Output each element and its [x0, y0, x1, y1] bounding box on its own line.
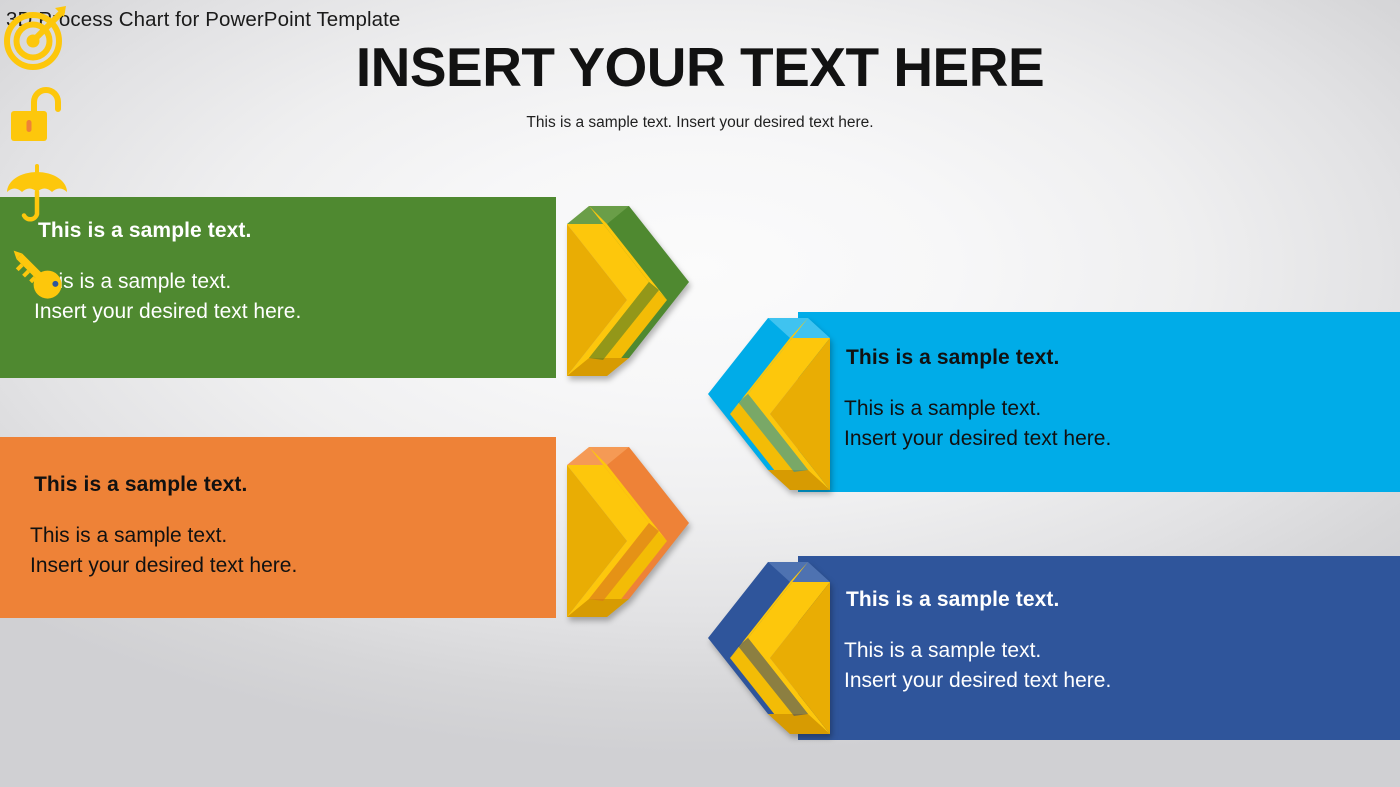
- step-heading: This is a sample text.: [846, 588, 1059, 612]
- step-body-line1: This is a sample text.: [844, 394, 1111, 424]
- umbrella-icon: [0, 158, 1400, 237]
- step-body: This is a sample text. Insert your desir…: [844, 636, 1111, 697]
- step-card-navy[interactable]: This is a sample text. This is a sample …: [798, 556, 1400, 740]
- step-heading: This is a sample text.: [34, 473, 247, 497]
- slide-canvas: 3D Process Chart for PowerPoint Template…: [0, 0, 1400, 787]
- step-body-line2: Insert your desired text here.: [30, 551, 297, 581]
- chevron-3d-navy: [688, 554, 838, 744]
- step-body: This is a sample text. Insert your desir…: [844, 394, 1111, 455]
- chevron-3d-cyan: [688, 310, 838, 500]
- key-icon: [0, 237, 1400, 316]
- step-card-cyan[interactable]: This is a sample text. This is a sample …: [798, 312, 1400, 492]
- step-body-line2: Insert your desired text here.: [844, 424, 1111, 454]
- step-body-line2: Insert your desired text here.: [844, 666, 1111, 696]
- unlocked-padlock-icon: [0, 79, 1400, 158]
- step-card-orange[interactable]: This is a sample text. This is a sample …: [0, 437, 556, 618]
- target-icon: [0, 0, 1400, 79]
- step-body-line1: This is a sample text.: [844, 636, 1111, 666]
- step-heading: This is a sample text.: [846, 346, 1059, 370]
- step-body-line1: This is a sample text.: [30, 521, 297, 551]
- step-body: This is a sample text. Insert your desir…: [30, 521, 297, 582]
